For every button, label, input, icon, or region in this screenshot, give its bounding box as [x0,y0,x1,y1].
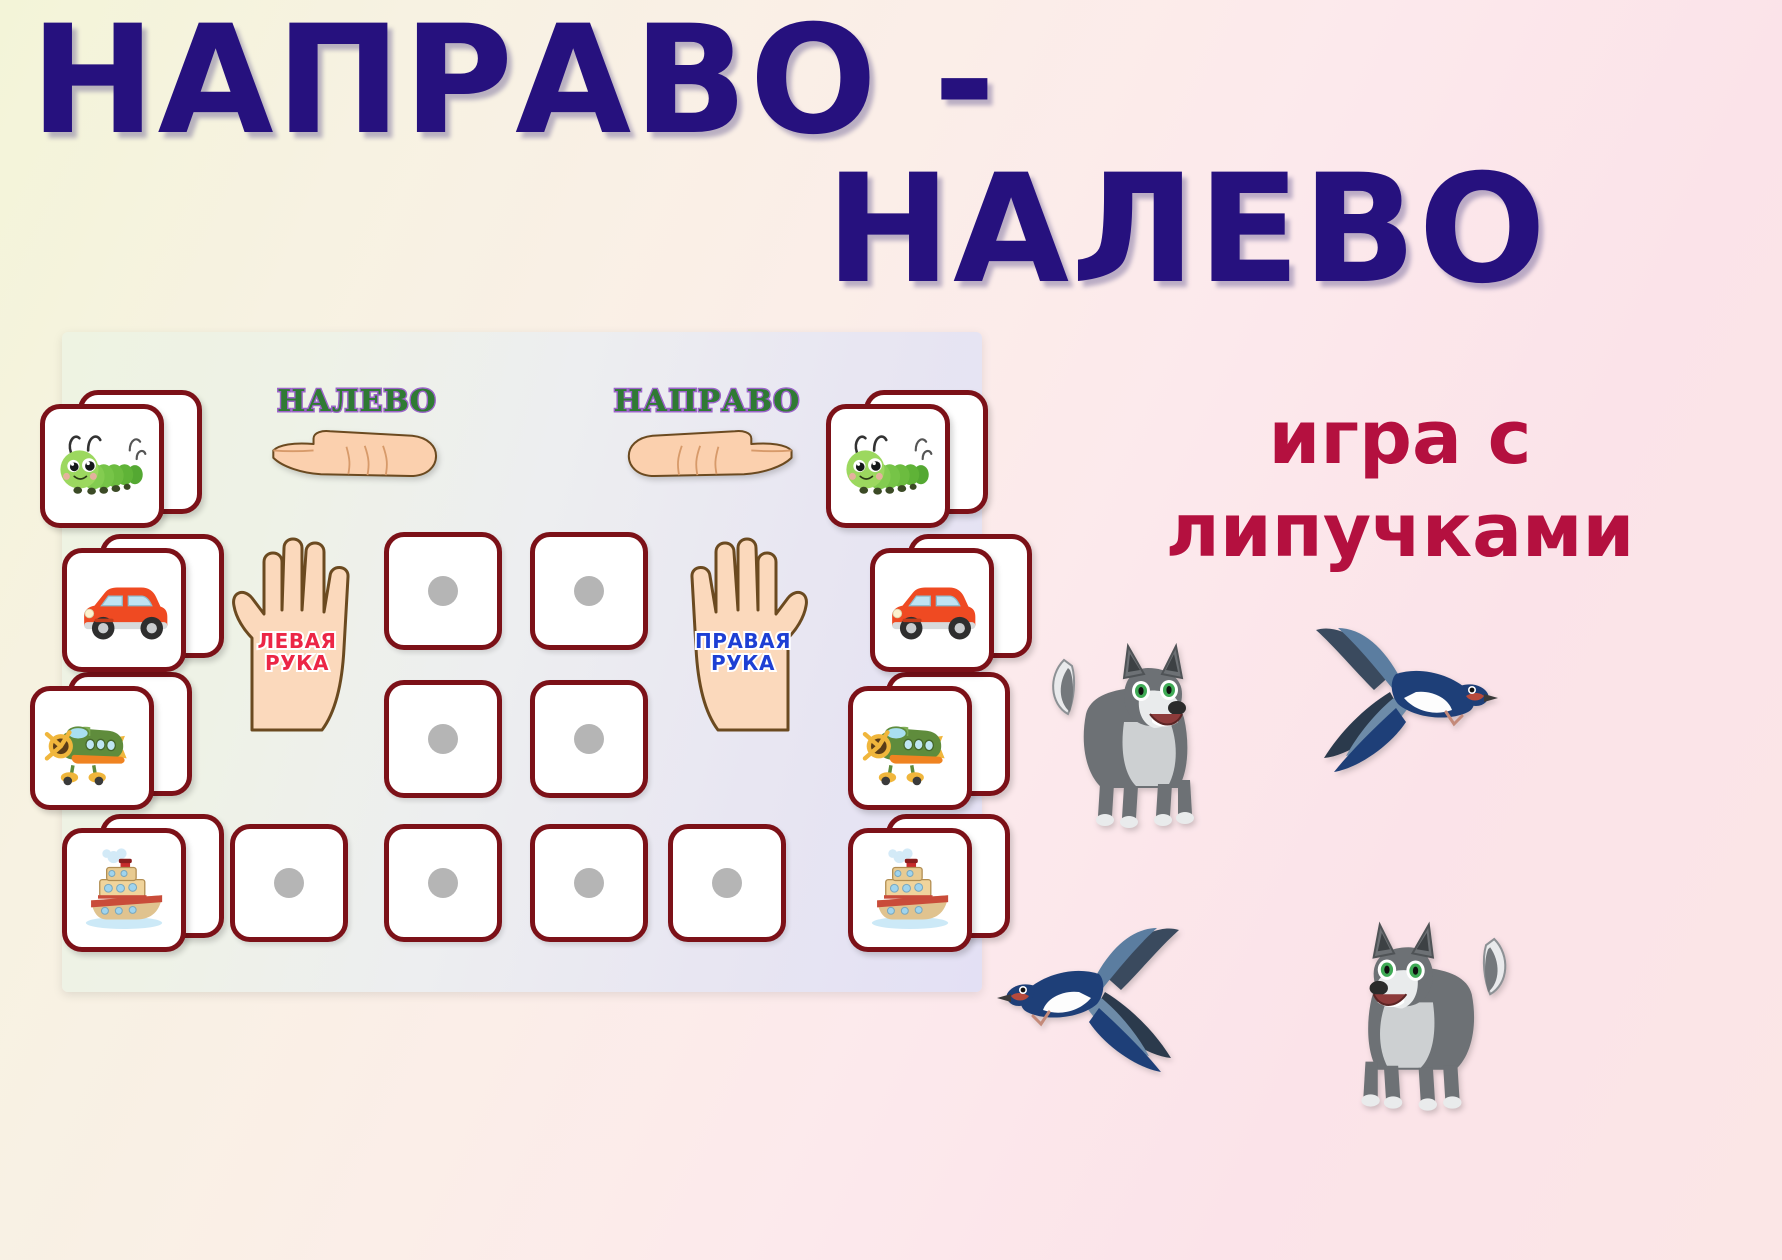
left-hand-illustration: ЛЕВАЯ РУКА [222,518,372,733]
swallow-icon [980,912,1195,1097]
velcro-slot[interactable] [230,824,348,942]
picture-card[interactable] [62,828,186,952]
direction-header-left: НАЛЕВО [242,384,472,492]
caterpillar-icon [836,414,940,518]
direction-label-left: НАЛЕВО [242,384,472,419]
decor-swallow-top [1300,612,1510,792]
decor-wolf-bottom [1296,896,1531,1121]
picture-card[interactable] [848,686,972,810]
subtitle-line-2: липучками [1040,485,1760,578]
decor-swallow-bottom [980,912,1195,1097]
direction-label-right: НАПРАВО [592,384,822,419]
page-title: НАПРАВО - НАЛЕВО [0,10,1560,301]
open-left-hand-icon [222,518,372,733]
velcro-slot[interactable] [530,532,648,650]
velcro-slot[interactable] [530,824,648,942]
picture-card[interactable] [62,548,186,672]
title-line-2: НАЛЕВО [30,159,1560,302]
decor-wolf-top [1028,618,1258,838]
caterpillar-icon [50,414,154,518]
open-right-hand-icon [668,518,818,733]
velcro-slot[interactable] [384,532,502,650]
car-icon [72,558,176,662]
picture-card[interactable] [826,404,950,528]
wolf-icon [1028,618,1258,838]
subtitle: игра с липучками [1040,392,1760,577]
direction-header-right: НАПРАВО [592,384,822,492]
steamboat-icon [72,838,176,942]
right-hand-illustration: ПРАВАЯ РУКА [668,518,818,733]
steamboat-icon [858,838,962,942]
airplane-icon [40,696,144,800]
subtitle-line-1: игра с [1040,392,1760,485]
velcro-slot[interactable] [668,824,786,942]
swallow-icon [1300,612,1510,792]
velcro-slot[interactable] [384,824,502,942]
picture-card[interactable] [848,828,972,952]
car-icon [880,558,984,662]
picture-card[interactable] [30,686,154,810]
title-line-1: НАПРАВО - [30,10,1560,153]
right-hand-caption: ПРАВАЯ РУКА [668,630,818,675]
picture-card[interactable] [40,404,164,528]
picture-card[interactable] [870,548,994,672]
left-hand-caption: ЛЕВАЯ РУКА [222,630,372,675]
velcro-slot[interactable] [530,680,648,798]
hand-pointing-right-icon [616,423,799,487]
airplane-icon [858,696,962,800]
hand-pointing-left-icon [266,423,449,487]
velcro-slot[interactable] [384,680,502,798]
wolf-icon [1296,896,1531,1121]
